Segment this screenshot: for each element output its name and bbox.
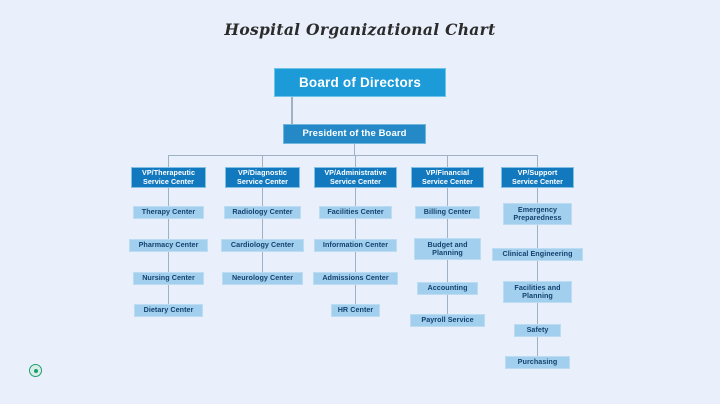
node-vp-support[interactable]: VP/Support Service Center [501,167,574,188]
node-vp-diagnostic[interactable]: VP/Diagnostic Service Center [225,167,300,188]
node-therapy-center[interactable]: Therapy Center [133,206,204,219]
record-icon[interactable] [29,364,42,377]
connector-bus-to-vp-4 [447,155,448,167]
node-dietary-center[interactable]: Dietary Center [134,304,203,317]
node-purchasing[interactable]: Purchasing [505,356,570,369]
node-pharmacy-center[interactable]: Pharmacy Center [129,239,208,252]
node-budget-and-planning[interactable]: Budget and Planning [414,238,481,260]
node-board-of-directors[interactable]: Board of Directors [274,68,446,97]
node-vp-administrative[interactable]: VP/Administrative Service Center [314,167,397,188]
node-president-of-the-board[interactable]: President of the Board [283,124,426,144]
node-billing-center[interactable]: Billing Center [415,206,480,219]
node-accounting[interactable]: Accounting [417,282,478,295]
connector-bus-to-vp-2 [262,155,263,167]
node-vp-financial[interactable]: VP/Financial Service Center [411,167,484,188]
node-hr-center[interactable]: HR Center [331,304,380,317]
node-safety[interactable]: Safety [514,324,561,337]
node-emergency-preparedness[interactable]: Emergency Preparedness [503,203,572,225]
node-facilities-center[interactable]: Facilities Center [319,206,392,219]
connector-bus-to-vp-1 [168,155,169,167]
connector-president-to-bus [354,144,355,155]
node-payroll-service[interactable]: Payroll Service [410,314,485,327]
node-admissions-center[interactable]: Admissions Center [313,272,398,285]
node-clinical-engineering[interactable]: Clinical Engineering [492,248,583,261]
connector-spine-col-2 [262,188,263,283]
node-cardiology-center[interactable]: Cardiology Center [221,239,304,252]
node-nursing-center[interactable]: Nursing Center [133,272,204,285]
node-facilities-and-planning[interactable]: Facilities and Planning [503,281,572,303]
page-title: Hospital Organizational Chart [0,20,720,39]
org-chart-canvas: Hospital Organizational Chart Board of D… [0,0,720,404]
connector-root-to-president [291,97,293,124]
connector-vp-bus [168,155,537,156]
node-radiology-center[interactable]: Radiology Center [224,206,301,219]
connector-bus-to-vp-3 [355,155,356,167]
node-neurology-center[interactable]: Neurology Center [222,272,303,285]
node-information-center[interactable]: Information Center [314,239,397,252]
connector-bus-to-vp-5 [537,155,538,167]
node-vp-therapeutic[interactable]: VP/Therapeutic Service Center [131,167,206,188]
